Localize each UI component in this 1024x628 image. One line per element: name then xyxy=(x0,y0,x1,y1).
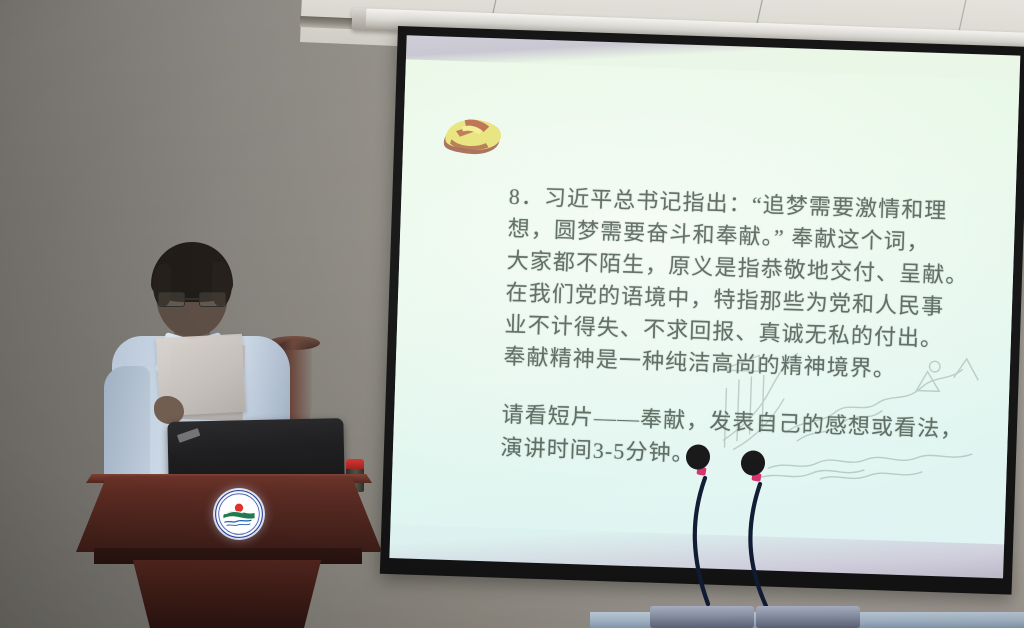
presentation-room-photo: 8．习近平总书记指出：“追梦需要激情和理 想，圆梦需要奋斗和奉献。” 奉献这个词… xyxy=(0,0,1024,628)
camera-vignette xyxy=(0,0,1024,628)
